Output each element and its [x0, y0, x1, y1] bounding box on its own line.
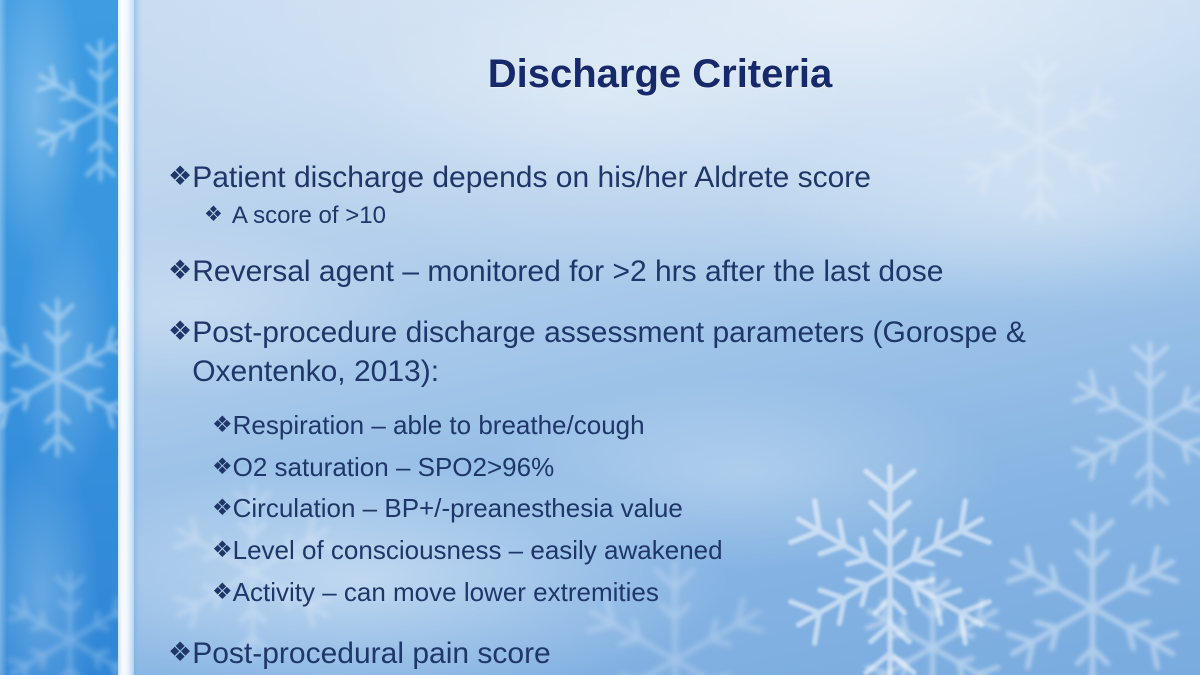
spacer — [168, 395, 1178, 409]
bullet-text: Circulation – BP+/-preanesthesia value — [233, 492, 683, 526]
spacer — [168, 238, 1178, 252]
diamond-bullet-icon: ❖ — [212, 534, 233, 565]
bullet-text: Activity – can move lower extremities — [233, 576, 659, 610]
bullet-item-post-procedural-pain-score: ❖ Post-procedural pain score — [168, 634, 1178, 673]
bullet-item-respiration: ❖ Respiration – able to breathe/cough — [212, 409, 1178, 443]
slide-content: Discharge Criteria ❖ Patient discharge d… — [0, 0, 1200, 675]
bullet-item-activity: ❖ Activity – can move lower extremities — [212, 576, 1178, 610]
bullet-item-circulation: ❖ Circulation – BP+/-preanesthesia value — [212, 492, 1178, 526]
bullet-text: A score of >10 — [232, 201, 386, 232]
spacer — [168, 618, 1178, 634]
spacer — [168, 295, 1178, 313]
bullet-list: ❖ Patient discharge depends on his/her A… — [168, 158, 1178, 675]
bullet-text: Reversal agent – monitored for >2 hrs af… — [192, 252, 943, 291]
bullet-text: Post-procedural pain score — [192, 634, 551, 673]
slide: Discharge Criteria ❖ Patient discharge d… — [0, 0, 1200, 675]
bullet-text: Post-procedure discharge assessment para… — [192, 313, 1037, 391]
bullet-item-post-procedure-parameters: ❖ Post-procedure discharge assessment pa… — [168, 313, 1178, 391]
diamond-bullet-icon: ❖ — [168, 158, 192, 195]
diamond-bullet-icon: ❖ — [168, 252, 192, 289]
bullet-item-patient-discharge: ❖ Patient discharge depends on his/her A… — [168, 158, 1178, 197]
diamond-bullet-icon: ❖ — [168, 313, 192, 350]
page-title: Discharge Criteria — [140, 52, 1180, 97]
bullet-item-aldrete-score: ❖ A score of >10 — [204, 201, 1178, 232]
bullet-text: Level of consciousness – easily awakened — [233, 534, 723, 568]
diamond-bullet-icon: ❖ — [212, 409, 233, 440]
bullet-text: Respiration – able to breathe/cough — [233, 409, 645, 443]
bullet-item-o2-saturation: ❖ O2 saturation – SPO2>96% — [212, 451, 1178, 485]
bullet-item-level-of-consciousness: ❖ Level of consciousness – easily awaken… — [212, 534, 1178, 568]
diamond-bullet-icon: ❖ — [212, 492, 233, 523]
bullet-text: O2 saturation – SPO2>96% — [233, 451, 555, 485]
diamond-bullet-icon: ❖ — [212, 576, 233, 607]
bullet-item-reversal-agent: ❖ Reversal agent – monitored for >2 hrs … — [168, 252, 1178, 291]
bullet-text: Patient discharge depends on his/her Ald… — [192, 158, 871, 197]
diamond-bullet-icon: ❖ — [212, 451, 233, 482]
diamond-bullet-icon: ❖ — [168, 634, 192, 671]
diamond-bullet-icon: ❖ — [204, 201, 232, 230]
